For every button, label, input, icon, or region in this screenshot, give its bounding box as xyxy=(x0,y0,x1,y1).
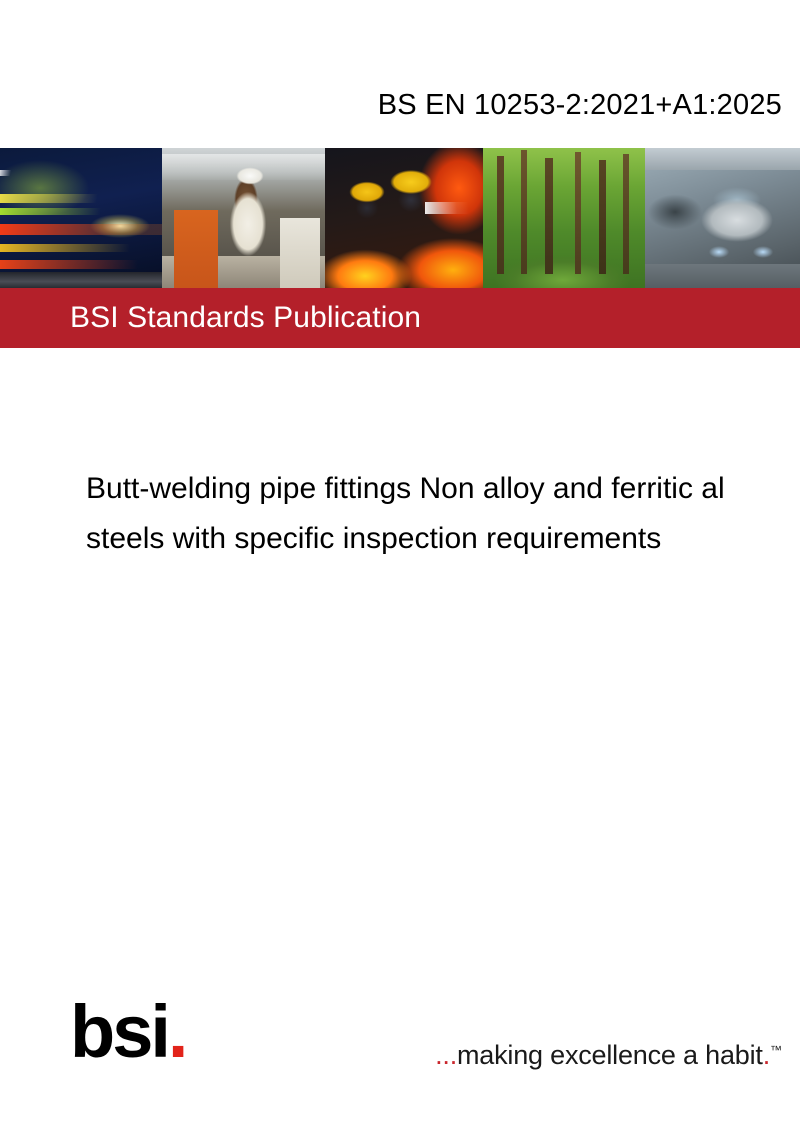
publisher-banner: BSI Standards Publication xyxy=(0,288,800,348)
bsi-logo: bsi. xyxy=(70,995,185,1069)
bsi-logo-dot: . xyxy=(168,990,186,1073)
document-title: Butt-welding pipe fittings Non alloy and… xyxy=(86,464,800,564)
photo-panel-traffic-light-trails xyxy=(0,148,162,288)
document-title-line-2: steels with specific inspection requirem… xyxy=(86,514,800,564)
tagline-endmark: . xyxy=(763,1040,770,1070)
tagline-ellipsis: ... xyxy=(435,1040,457,1070)
tagline-text: making excellence a habit xyxy=(457,1040,763,1070)
bsi-tagline: ...making excellence a habit.™ xyxy=(435,1034,782,1071)
photo-panel-forest xyxy=(483,148,645,288)
photo-panel-firefighters xyxy=(325,148,483,288)
trademark-icon: ™ xyxy=(770,1043,782,1057)
cover-photo-strip xyxy=(0,148,800,288)
photo-panel-car-assembly-line xyxy=(645,148,800,288)
standard-number: BS EN 10253-2:2021+A1:2025 xyxy=(378,88,782,122)
publisher-banner-label: BSI Standards Publication xyxy=(70,301,421,335)
bsi-logo-text: bsi xyxy=(70,990,168,1073)
photo-panel-warehouse-worker xyxy=(162,148,325,288)
document-title-line-1: Butt-welding pipe fittings Non alloy and… xyxy=(86,464,800,514)
